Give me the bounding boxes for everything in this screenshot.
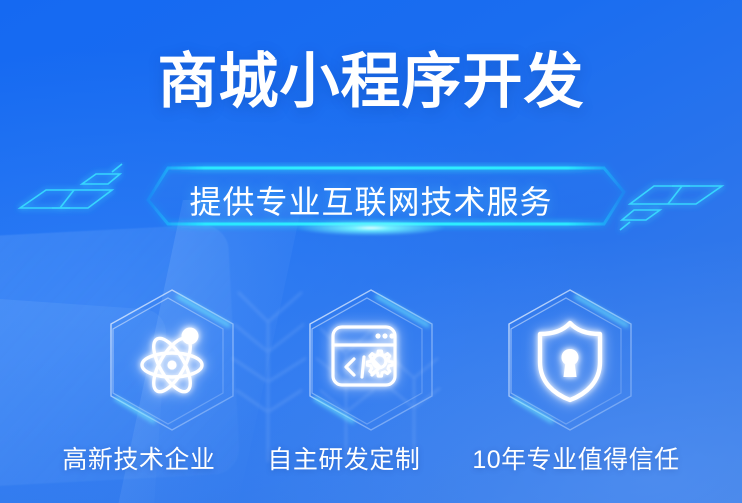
subtitle-text: 提供专业互联网技术服务: [0, 182, 742, 222]
feature-item-2: [296, 286, 446, 436]
feature-label-1: 高新技术企业: [62, 444, 215, 476]
feature-item-1: [97, 286, 247, 436]
feature-label-2: 自主研发定制: [267, 444, 420, 476]
feature-label-row: 高新技术企业 自主研发定制 10年专业值得信任: [0, 440, 742, 480]
feature-item-3: [495, 286, 645, 436]
subtitle-banner: 提供专业互联网技术服务: [0, 162, 742, 242]
page-title: 商城小程序开发: [0, 52, 742, 112]
feature-icon-row: [0, 286, 742, 436]
atom-icon: [97, 286, 247, 436]
promo-banner: 商城小程序开发: [0, 0, 742, 503]
lens-flare-icon: [296, 220, 446, 236]
feature-label-3: 10年专业值得信任: [472, 444, 679, 476]
code-window-gear-icon: [296, 286, 446, 436]
shield-lock-icon: [495, 286, 645, 436]
